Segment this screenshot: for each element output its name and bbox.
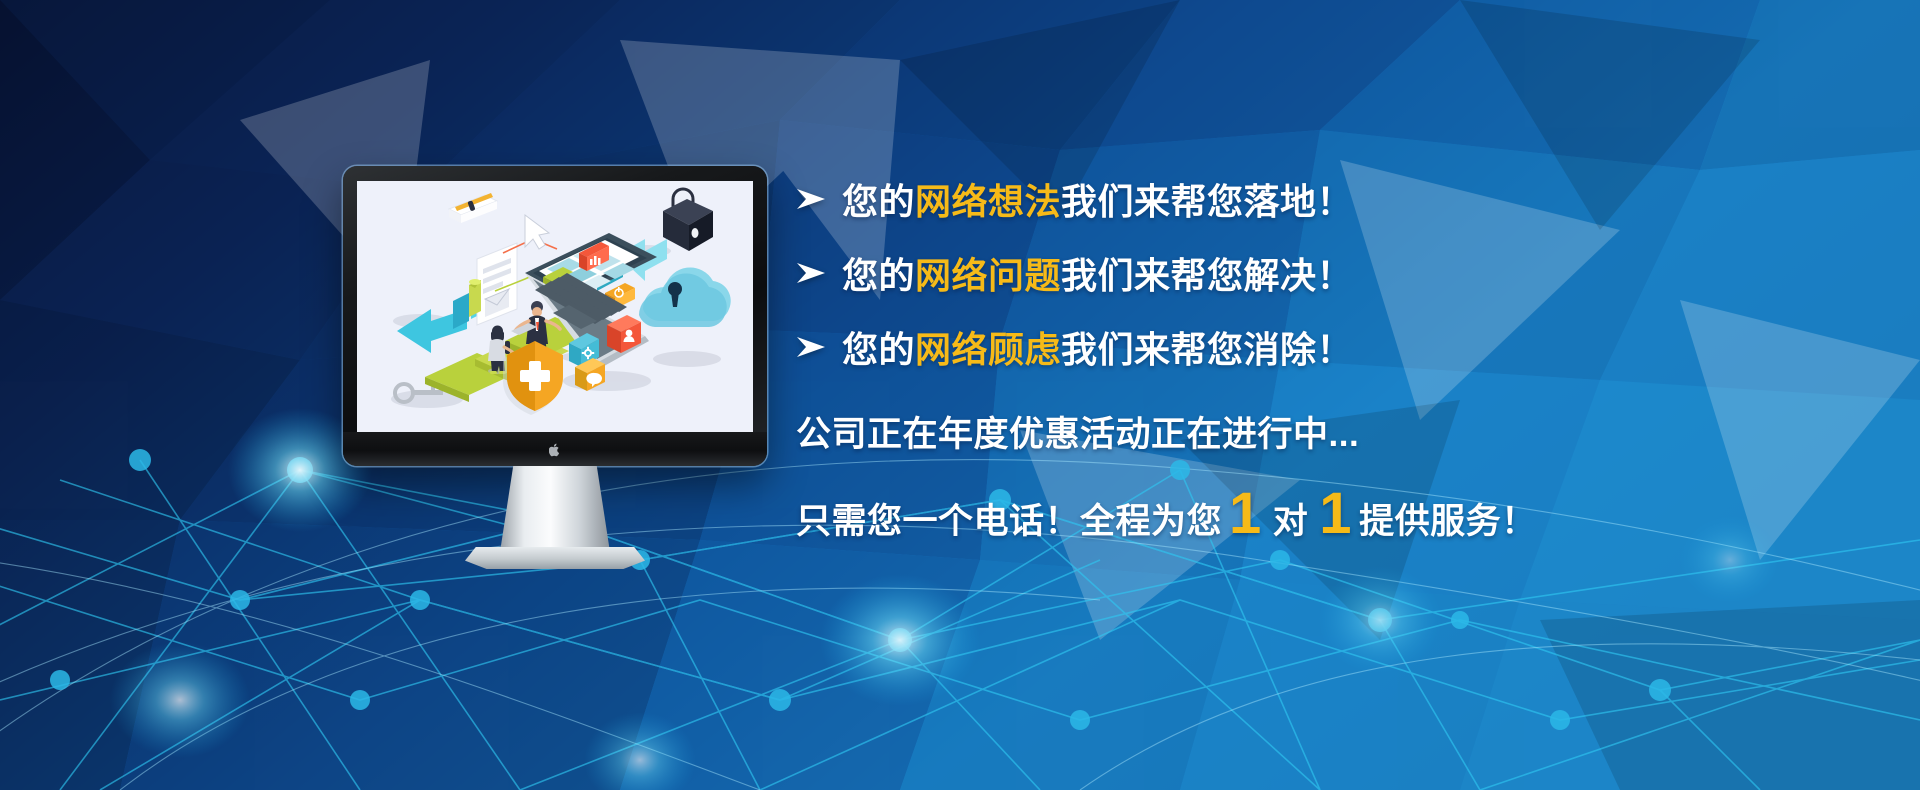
cta-number-second: 1 [1312,491,1359,537]
bullet-prefix-1: 您的 [842,181,915,222]
arrow-right-icon [796,188,842,210]
bullet-text-2: 您的网络问题我们来帮您解决！ [842,247,1353,299]
bullet-text-1: 您的网络想法我们来帮您落地！ [842,173,1353,225]
imac-monitor-illustration [343,166,767,466]
cta-line: 只需您一个电话！全程为您 1 对 1 提供服务！ [796,491,1796,544]
cta-number-first: 1 [1222,491,1269,537]
bullet-highlight-3: 网络顾虑 [915,329,1061,370]
bullet-suffix-2: 我们来帮您解决！ [1061,255,1353,296]
bullet-highlight-1: 网络想法 [915,181,1061,222]
promo-banner: 您的网络想法我们来帮您落地！ 您的网络问题我们来帮您解决！ 您的网络顾虑我们来帮… [0,0,1920,790]
bullet-item-3: 您的网络顾虑我们来帮您消除！ [796,310,1796,384]
promo-line: 公司正在年度优惠活动正在进行中... [796,406,1796,457]
cta-lead: 只需您一个电话！全程为您 [796,493,1222,544]
apple-logo-icon [549,443,561,457]
monitor-screen [357,181,753,432]
bullet-prefix-3: 您的 [842,329,915,370]
arrow-right-icon [796,336,842,358]
chart-bar-icon [469,279,481,317]
bullet-prefix-2: 您的 [842,255,915,296]
monitor-foot [465,547,645,569]
cta-tail: 提供服务！ [1359,493,1537,544]
arrow-right-icon [796,262,842,284]
banner-copy-block: 您的网络想法我们来帮您落地！ 您的网络问题我们来帮您解决！ 您的网络顾虑我们来帮… [796,162,1796,544]
bullet-item-1: 您的网络想法我们来帮您落地！ [796,162,1796,236]
monitor-neck [500,466,610,552]
bullet-suffix-1: 我们来帮您落地！ [1061,181,1353,222]
bullet-suffix-3: 我们来帮您消除！ [1061,329,1353,370]
bullet-highlight-2: 网络问题 [915,255,1061,296]
bullet-item-2: 您的网络问题我们来帮您解决！ [796,236,1796,310]
bullet-text-3: 您的网络顾虑我们来帮您消除！ [842,321,1353,373]
cta-between: 对 [1269,493,1313,544]
isometric-network-scene [357,181,753,432]
